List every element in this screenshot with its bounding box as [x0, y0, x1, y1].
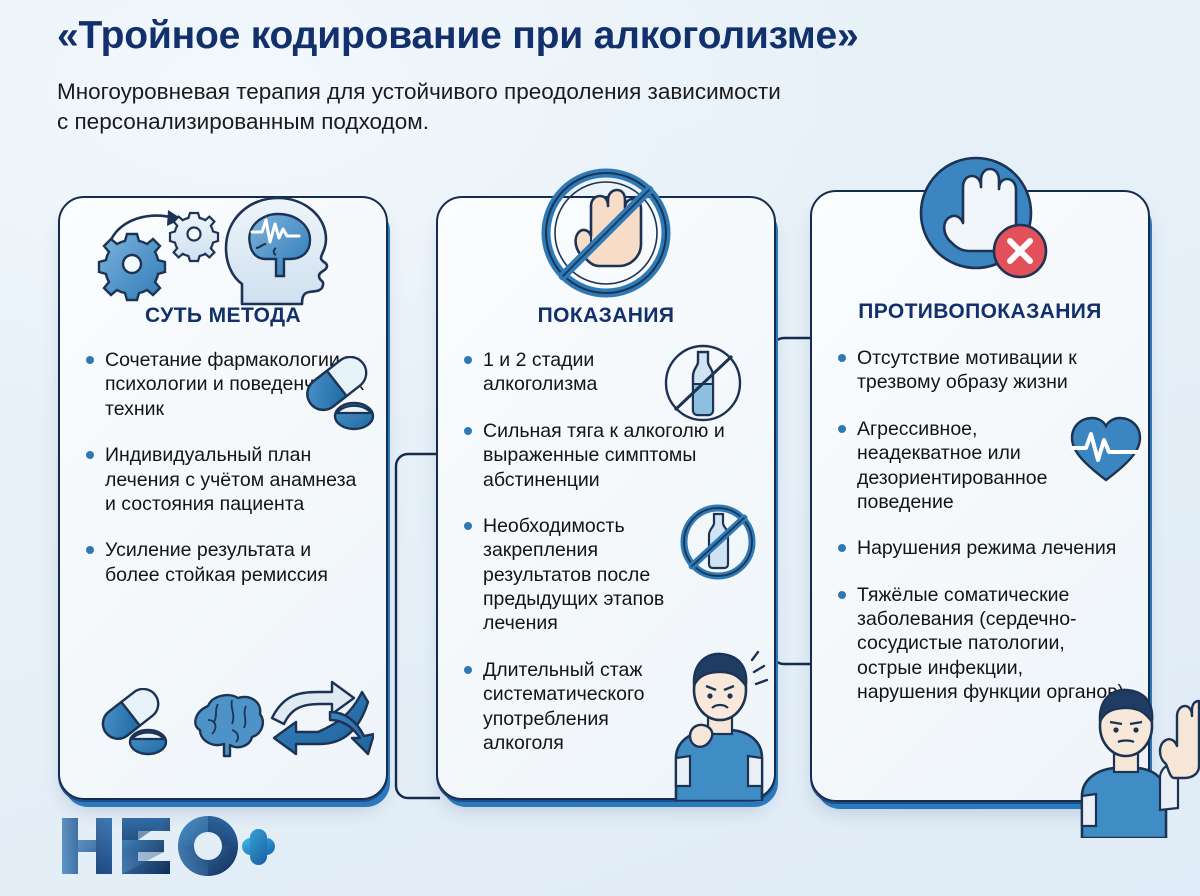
heart-pulse-icon — [1068, 414, 1144, 491]
stop-hand-x-icon — [908, 147, 1058, 302]
list-item: Усиление результата и более стойкая реми… — [86, 538, 372, 587]
shuffle-arrows-icon — [266, 676, 374, 767]
worried-man-icon — [654, 646, 784, 806]
card-title-contraindications: ПРОТИВОПОКАЗАНИЯ — [812, 300, 1148, 324]
list-item: Нарушения режима лечения — [838, 536, 1134, 560]
no-alcohol-hand-icon — [533, 160, 679, 311]
list-item: Индивидуальный план лечения с учётом ана… — [86, 443, 372, 516]
man-raised-hand-icon — [1074, 678, 1200, 843]
capsule-tablet-icon — [94, 688, 178, 765]
card-indications: ПОКАЗАНИЯ 1 и 2 стадии алкоголизма Сильн… — [436, 196, 776, 800]
card-title-method: СУТЬ МЕТОДА — [60, 304, 386, 328]
gears-brain-head-icon — [90, 192, 340, 312]
no-bottle-icon — [660, 340, 746, 431]
list-item: Отсутствие мотивации к трезвому образу ж… — [838, 346, 1134, 395]
no-bottle-crossed-icon — [674, 498, 762, 591]
pill-tablet-icon — [296, 356, 384, 439]
card-title-indications: ПОКАЗАНИЯ — [438, 304, 774, 328]
bullet-list-contraindications: Отсутствие мотивации к трезвому образу ж… — [838, 346, 1134, 725]
brain-icon — [188, 690, 266, 765]
neo-plus-logo — [60, 816, 275, 878]
card-contraindications: ПРОТИВОПОКАЗАНИЯ Отсутствие мотивации к … — [810, 190, 1150, 802]
card-method-essence: СУТЬ МЕТОДА Сочетание фармакологии, псих… — [58, 196, 388, 800]
